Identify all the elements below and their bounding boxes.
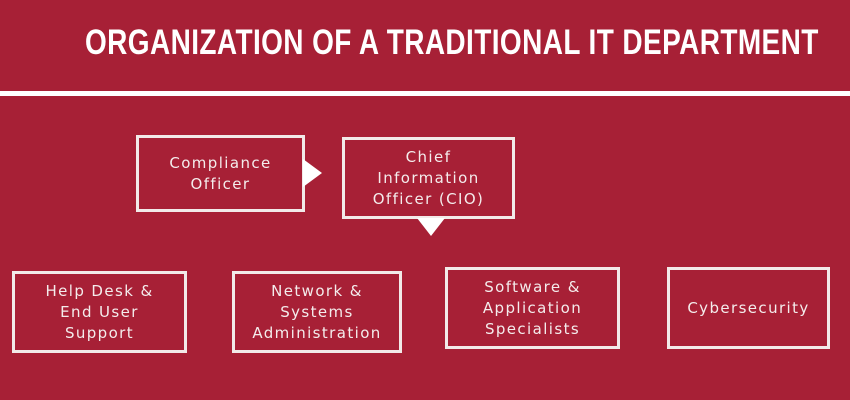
header-band: ORGANIZATION OF A TRADITIONAL IT DEPARTM… xyxy=(0,0,850,92)
node-cybersecurity-label: Cybersecurity xyxy=(687,298,809,319)
node-compliance-officer[interactable]: Compliance Officer xyxy=(136,135,305,212)
diagram-canvas: ORGANIZATION OF A TRADITIONAL IT DEPARTM… xyxy=(0,0,850,400)
node-chief-information-officer[interactable]: Chief Information Officer (CIO) xyxy=(342,137,515,219)
node-compliance-officer-label: Compliance Officer xyxy=(169,153,271,195)
header-divider xyxy=(0,91,850,96)
node-help-desk-end-user-support[interactable]: Help Desk & End User Support xyxy=(12,271,187,353)
node-software-application-specialists[interactable]: Software & Application Specialists xyxy=(445,267,620,349)
node-chief-information-officer-label: Chief Information Officer (CIO) xyxy=(373,147,485,210)
node-software-application-specialists-label: Software & Application Specialists xyxy=(483,277,582,340)
node-help-desk-end-user-support-label: Help Desk & End User Support xyxy=(45,281,153,344)
arrow-right-icon xyxy=(303,159,322,187)
arrow-down-icon xyxy=(417,218,445,236)
node-cybersecurity[interactable]: Cybersecurity xyxy=(667,267,830,349)
node-network-systems-administration[interactable]: Network & Systems Administration xyxy=(232,271,402,353)
node-network-systems-administration-label: Network & Systems Administration xyxy=(252,281,381,344)
page-title: ORGANIZATION OF A TRADITIONAL IT DEPARTM… xyxy=(85,22,765,64)
